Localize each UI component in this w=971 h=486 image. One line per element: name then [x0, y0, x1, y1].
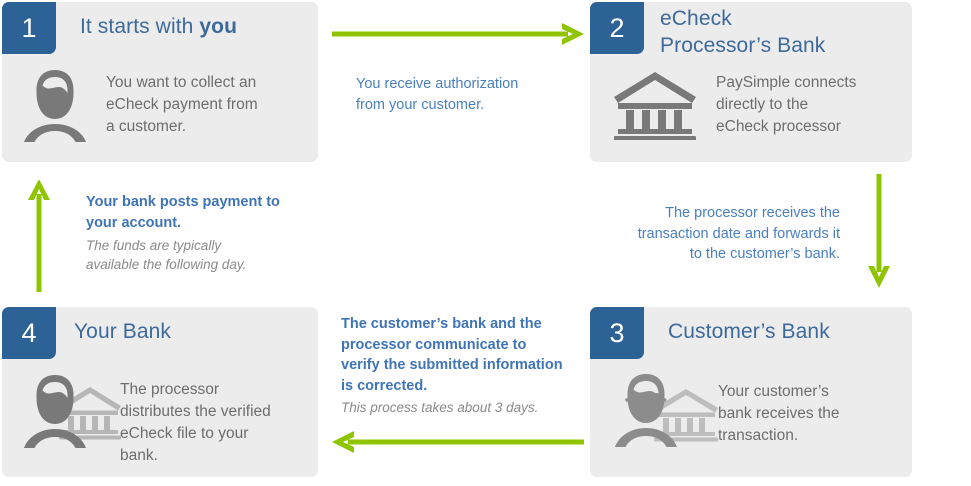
step-panel-1: 1 It starts with you You want to collect…	[2, 2, 318, 162]
connector-left-text: Your bank posts payment to your account.	[86, 192, 316, 233]
connector-bottom-text: The customer’s bank and the processor co…	[341, 314, 586, 396]
step-number-badge-1: 1	[2, 2, 56, 54]
step-body-1: You want to collect an eCheck payment fr…	[106, 72, 306, 138]
step-title-3: Customer’s Bank	[668, 319, 830, 346]
arrow-down-icon	[866, 172, 892, 290]
step-title-1-bold: you	[199, 15, 237, 38]
connector-right-text: The processor receives the transaction d…	[578, 203, 840, 265]
echeck-flow-diagram: 1 It starts with you You want to collect…	[0, 0, 971, 486]
step-panel-3: 3 Customer’s Bank	[590, 307, 912, 477]
arrow-left-icon	[330, 430, 586, 454]
step-number-badge-2: 2	[590, 2, 644, 54]
step-title-2: eCheck Processor’s Bank	[660, 6, 825, 60]
arrow-right-icon	[330, 22, 586, 46]
person-with-bank-icon	[18, 369, 122, 451]
person-icon	[18, 64, 92, 142]
connector-top-text: You receive authorization from your cust…	[356, 74, 576, 115]
arrow-up-icon	[26, 180, 52, 294]
step-panel-2: 2 eCheck Processor’s Bank PaySimple conn…	[590, 2, 912, 162]
person-with-glasses-and-bank-icon	[608, 369, 720, 451]
step-body-3: Your customer’s bank receives the transa…	[718, 381, 898, 447]
connector-left-subtext: The funds are typically available the fo…	[86, 236, 306, 274]
connector-bottom-subtext: This process takes about 3 days.	[341, 398, 586, 417]
step-title-1-plain: It starts with	[80, 15, 199, 38]
step-number-badge-4: 4	[2, 307, 56, 359]
step-title-1: It starts with you	[80, 14, 237, 41]
step-title-4: Your Bank	[74, 319, 171, 346]
step-body-4: The processor distributes the verified e…	[120, 379, 310, 467]
step-number-badge-3: 3	[590, 307, 644, 359]
step-panel-4: 4 Your Bank The processor distributes th…	[2, 307, 318, 477]
step-body-2: PaySimple connects directly to the eChec…	[716, 72, 906, 138]
bank-icon	[612, 70, 698, 140]
